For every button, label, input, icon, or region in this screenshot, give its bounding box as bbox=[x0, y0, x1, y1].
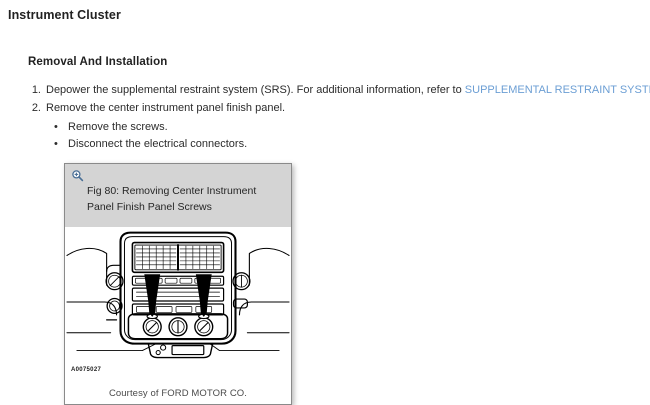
instrument-panel-diagram bbox=[65, 227, 291, 379]
callout-arrows bbox=[144, 274, 211, 317]
link-supplemental-restraint-system[interactable]: SUPPLEMENTAL RESTRAINT SYSTEM bbox=[465, 84, 650, 96]
page-title: Instrument Cluster bbox=[8, 8, 121, 22]
procedure-substep-1-text: Remove the screws. bbox=[68, 121, 168, 133]
figure-illustration: A0075027 bbox=[65, 227, 291, 379]
figure-panel[interactable]: Fig 80: Removing Center Instrument Panel… bbox=[64, 163, 292, 405]
procedure-step-2: 2.Remove the center instrument panel fin… bbox=[28, 100, 640, 152]
procedure-substep-2: •Disconnect the electrical connectors. bbox=[46, 136, 640, 153]
figure-art-code: A0075027 bbox=[71, 367, 101, 373]
bullet-icon: • bbox=[54, 136, 58, 153]
procedure-substep-2-text: Disconnect the electrical connectors. bbox=[68, 138, 247, 150]
procedure-step-1: 1.Depower the supplemental restraint sys… bbox=[28, 82, 640, 99]
bullet-icon: • bbox=[54, 119, 58, 136]
procedure-step-2-text: Remove the center instrument panel finis… bbox=[46, 102, 285, 114]
figure-caption: Fig 80: Removing Center Instrument Panel… bbox=[87, 183, 281, 215]
figure-courtesy-text: Courtesy of FORD MOTOR CO. bbox=[65, 379, 291, 399]
procedure-step-1-text: Depower the supplemental restraint syste… bbox=[46, 84, 465, 96]
figure-header: Fig 80: Removing Center Instrument Panel… bbox=[65, 164, 291, 227]
procedure-step-1-number: 1. bbox=[28, 82, 41, 99]
procedure-step-2-number: 2. bbox=[28, 100, 41, 117]
section-heading-removal-and-installation: Removal And Installation bbox=[28, 56, 167, 68]
zoom-in-icon[interactable] bbox=[71, 169, 84, 182]
procedure-substep-list: •Remove the screws. •Disconnect the elec… bbox=[46, 119, 640, 152]
procedure-list: 1.Depower the supplemental restraint sys… bbox=[28, 82, 640, 153]
procedure-substep-1: •Remove the screws. bbox=[46, 119, 640, 136]
